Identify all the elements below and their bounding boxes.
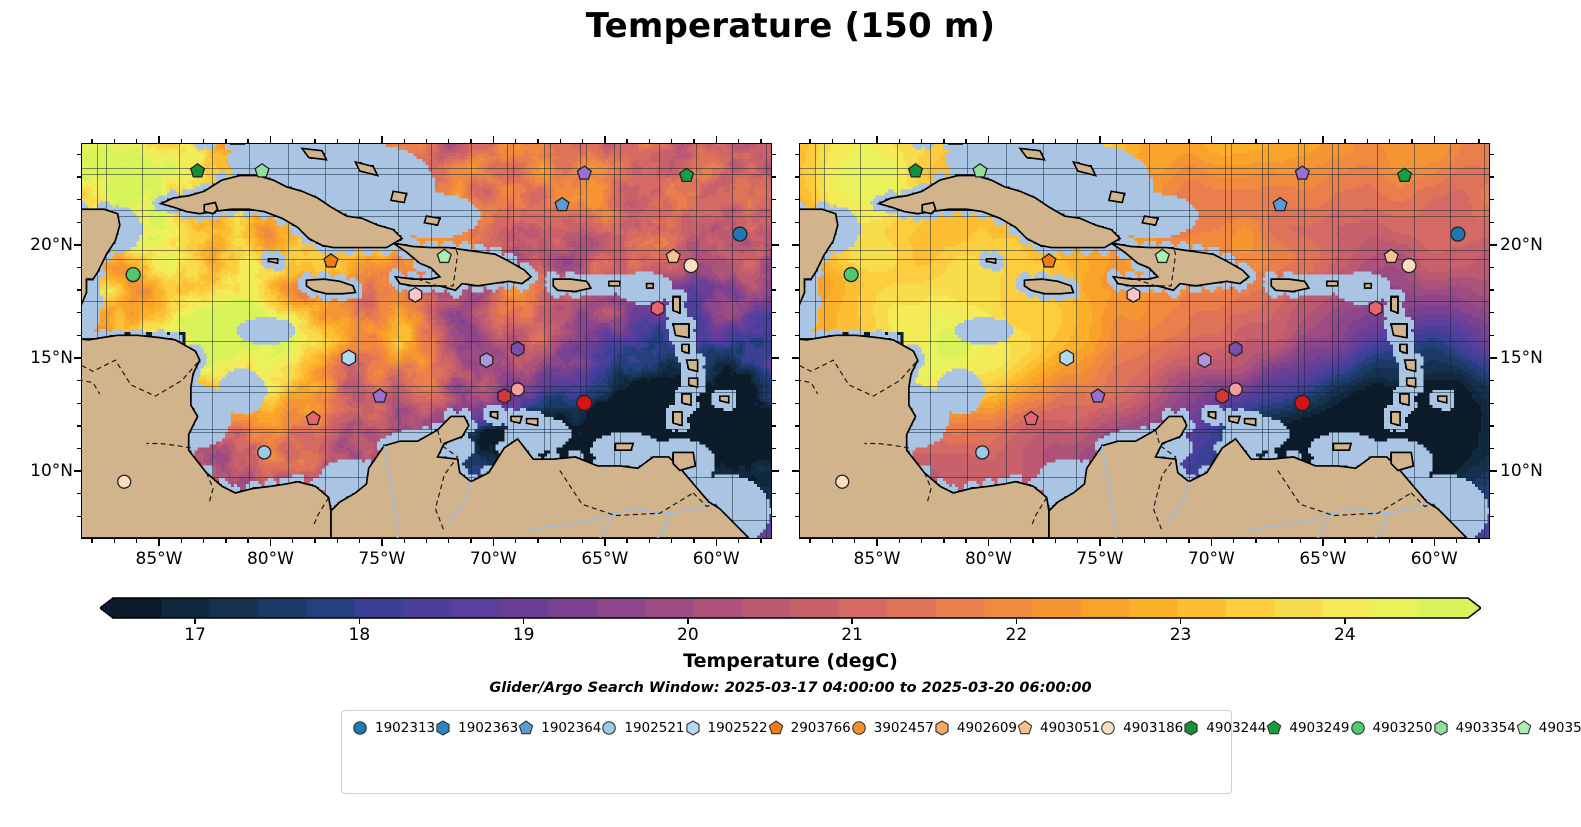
lat-minor-tick <box>795 448 799 449</box>
lon-top-tick <box>716 136 717 143</box>
lon-minor-tick <box>1032 139 1033 143</box>
lat-tick-label-left-2: 20°N <box>8 235 73 255</box>
lat-minor-tick <box>77 516 81 517</box>
colorbar-band <box>1226 598 1275 618</box>
lat-minor-tick <box>77 493 81 494</box>
legend-item-4903186[interactable]: 4903186 <box>1100 717 1183 738</box>
legend-marker-circle <box>1100 720 1116 736</box>
lon-top-tick <box>158 136 159 143</box>
legend-item-1902521[interactable]: 1902521 <box>601 717 684 738</box>
colorbar-band <box>839 598 888 618</box>
lon-minor-tick <box>649 139 650 143</box>
lon-minor-tick <box>181 539 182 543</box>
axis-decorations: 85°W80°W75°W70°W65°W60°W85°W80°W75°W70°W… <box>0 0 1581 600</box>
lon-minor-tick <box>1055 139 1056 143</box>
colorbar-tick-label-6: 23 <box>1170 625 1192 645</box>
lat-minor-tick <box>1490 425 1494 426</box>
lon-minor-tick <box>470 139 471 143</box>
legend-label-4903354: 4903354 <box>1456 720 1516 736</box>
legend-item-4903354[interactable]: 4903354 <box>1433 717 1516 738</box>
lat-minor-tick <box>77 403 81 404</box>
colorbar-tick-label-2: 19 <box>513 625 535 645</box>
colorbar-tick-label-3: 20 <box>677 625 699 645</box>
lat-minor-tick <box>772 380 776 381</box>
lat-minor-tick <box>1490 516 1494 517</box>
colorbar-tick <box>359 618 360 624</box>
lon-minor-tick <box>314 539 315 543</box>
lon-minor-tick <box>404 139 405 143</box>
colorbar-tick <box>523 618 524 624</box>
lon-tick-rtofs-0 <box>158 539 159 546</box>
lat-minor-tick <box>1490 154 1494 155</box>
lon-minor-tick <box>1300 139 1301 143</box>
lon-minor-tick <box>1055 539 1056 543</box>
lon-top-tick <box>604 136 605 143</box>
colorbar-band <box>210 598 259 618</box>
lat-tick-right <box>772 244 779 245</box>
lon-minor-tick <box>1367 539 1368 543</box>
colorbar-band <box>403 598 452 618</box>
lon-minor-tick <box>582 539 583 543</box>
lon-minor-tick <box>1389 539 1390 543</box>
legend-marker-circle <box>601 720 617 736</box>
lon-minor-tick <box>832 539 833 543</box>
lon-minor-tick <box>537 139 538 143</box>
lon-minor-tick <box>738 539 739 543</box>
legend-item-2903766[interactable]: 2903766 <box>768 717 851 738</box>
lat-minor-tick <box>77 176 81 177</box>
colorbar-band <box>791 598 840 618</box>
lat-minor-tick <box>77 380 81 381</box>
legend-marker-hexagon <box>1183 720 1199 736</box>
lon-minor-tick <box>114 539 115 543</box>
colorbar-band <box>452 598 501 618</box>
colorbar-band <box>597 598 646 618</box>
lon-minor-tick <box>921 139 922 143</box>
lon-minor-tick <box>515 139 516 143</box>
lat-tick-label-right-2: 20°N <box>1500 235 1543 255</box>
lon-minor-tick <box>1010 539 1011 543</box>
legend-marker-pentagon <box>1266 720 1282 736</box>
lon-minor-tick <box>671 139 672 143</box>
lon-minor-tick <box>943 139 944 143</box>
lon-minor-tick <box>1166 139 1167 143</box>
lon-minor-tick <box>582 139 583 143</box>
lat-minor-tick <box>795 380 799 381</box>
lon-minor-tick <box>1144 539 1145 543</box>
lat-tick-right <box>772 357 779 358</box>
lon-minor-tick <box>1411 539 1412 543</box>
lon-minor-tick <box>359 539 360 543</box>
colorbar-band <box>984 598 1033 618</box>
lon-top-tick <box>381 136 382 143</box>
lon-minor-tick <box>1077 139 1078 143</box>
lon-tick-label-rtofs-4: 65°W <box>581 549 628 569</box>
lon-minor-tick <box>247 139 248 143</box>
lat-minor-tick <box>1490 267 1494 268</box>
lon-minor-tick <box>1278 539 1279 543</box>
colorbar-tick-label-1: 18 <box>349 625 371 645</box>
lon-minor-tick <box>854 539 855 543</box>
lon-minor-tick <box>136 539 137 543</box>
lon-top-tick <box>1099 136 1100 143</box>
lon-minor-tick <box>515 539 516 543</box>
lat-minor-tick <box>772 448 776 449</box>
lon-tick-rtofs-3 <box>493 539 494 546</box>
colorbar-band <box>549 598 598 618</box>
lon-minor-tick <box>1144 139 1145 143</box>
lon-minor-tick <box>649 539 650 543</box>
lat-minor-tick <box>772 516 776 517</box>
lon-minor-tick <box>1010 139 1011 143</box>
colorbar[interactable] <box>100 592 1481 628</box>
lon-tick-rtofs-2 <box>381 539 382 546</box>
colorbar-title: Temperature (degC) <box>0 650 1581 672</box>
lat-minor-tick <box>772 176 776 177</box>
lat-minor-tick <box>1490 289 1494 290</box>
lon-minor-tick <box>760 539 761 543</box>
lat-tick-right <box>1490 470 1497 471</box>
lon-minor-tick <box>203 539 204 543</box>
lat-minor-tick <box>1490 493 1494 494</box>
legend-item-1902522[interactable]: 1902522 <box>685 717 768 738</box>
lon-tick-label-rtofs-2: 75°W <box>358 549 405 569</box>
colorbar-tick-label-4: 21 <box>841 625 863 645</box>
lon-minor-tick <box>921 539 922 543</box>
lon-minor-tick <box>247 539 248 543</box>
legend-item-4903244[interactable]: 4903244 <box>1183 717 1266 738</box>
legend-label-4903051: 4903051 <box>1040 720 1100 736</box>
lon-minor-tick <box>738 139 739 143</box>
colorbar-tick-label-5: 22 <box>1006 625 1028 645</box>
lon-minor-tick <box>426 139 427 143</box>
lat-tick-right <box>772 470 779 471</box>
colorbar-band <box>1081 598 1130 618</box>
lon-tick-rtofs-5 <box>716 539 717 546</box>
lon-minor-tick <box>899 539 900 543</box>
lon-tick-label-rtofs-parallel-0: 85°W <box>854 549 901 569</box>
lon-minor-tick <box>1166 539 1167 543</box>
lon-minor-tick <box>314 139 315 143</box>
lat-minor-tick <box>772 335 776 336</box>
lat-minor-tick <box>77 425 81 426</box>
legend-label-4903244: 4903244 <box>1206 720 1266 736</box>
lon-minor-tick <box>1255 139 1256 143</box>
legend-marker-circle <box>851 720 867 736</box>
colorbar-tick-label-0: 17 <box>184 625 206 645</box>
lon-minor-tick <box>693 539 694 543</box>
lon-minor-tick <box>560 539 561 543</box>
lat-minor-tick <box>1490 403 1494 404</box>
colorbar-band <box>1178 598 1227 618</box>
lon-tick-rtofs-parallel-3 <box>1211 539 1212 546</box>
lat-tick-right <box>1490 357 1497 358</box>
lon-minor-tick <box>225 139 226 143</box>
lat-minor-tick <box>772 267 776 268</box>
lon-minor-tick <box>854 139 855 143</box>
lat-minor-tick <box>795 289 799 290</box>
lat-minor-tick <box>795 312 799 313</box>
legend-label-4902609: 4902609 <box>957 720 1017 736</box>
lon-top-tick <box>270 136 271 143</box>
lon-minor-tick <box>225 539 226 543</box>
lat-minor-tick <box>77 448 81 449</box>
legend-item-4902609[interactable]: 4902609 <box>934 717 1017 738</box>
legend-marker-pentagon <box>1017 720 1033 736</box>
lon-tick-label-rtofs-parallel-1: 80°W <box>965 549 1012 569</box>
lon-minor-tick <box>1188 539 1189 543</box>
lon-minor-tick <box>943 539 944 543</box>
colorbar-band <box>307 598 356 618</box>
lon-minor-tick <box>1367 139 1368 143</box>
legend-marker-hexagon <box>934 720 950 736</box>
colorbar-band <box>694 598 743 618</box>
colorbar-band <box>500 598 549 618</box>
lat-minor-tick <box>1490 335 1494 336</box>
lon-top-tick <box>1434 136 1435 143</box>
legend-item-1902313[interactable]: 1902313 <box>352 717 435 738</box>
lon-tick-label-rtofs-3: 70°W <box>470 549 517 569</box>
lon-minor-tick <box>1344 139 1345 143</box>
legend-label-1902522: 1902522 <box>708 720 768 736</box>
colorbar-band <box>1420 598 1469 618</box>
lat-minor-tick <box>772 493 776 494</box>
colorbar-band <box>887 598 936 618</box>
lon-top-tick <box>876 136 877 143</box>
lat-minor-tick <box>795 199 799 200</box>
lon-tick-label-rtofs-parallel-2: 75°W <box>1076 549 1123 569</box>
legend-marker-pentagon <box>768 720 784 736</box>
lon-minor-tick <box>1188 139 1189 143</box>
lon-minor-tick <box>1255 539 1256 543</box>
lon-tick-label-rtofs-parallel-5: 60°W <box>1411 549 1458 569</box>
colorbar-band <box>1129 598 1178 618</box>
lat-minor-tick <box>772 312 776 313</box>
lon-minor-tick <box>426 539 427 543</box>
lon-minor-tick <box>1122 539 1123 543</box>
lon-tick-label-rtofs-1: 80°W <box>247 549 294 569</box>
legend-label-1902363: 1902363 <box>458 720 518 736</box>
lon-minor-tick <box>1456 139 1457 143</box>
lat-tick-left <box>74 244 81 245</box>
lon-tick-label-rtofs-0: 85°W <box>136 549 183 569</box>
lon-minor-tick <box>359 139 360 143</box>
lat-minor-tick <box>77 154 81 155</box>
lon-minor-tick <box>671 539 672 543</box>
colorbar-tick <box>851 618 852 624</box>
lat-minor-tick <box>772 289 776 290</box>
legend-label-4903561: 4903561 <box>1539 720 1581 736</box>
lat-tick-right <box>1490 244 1497 245</box>
lat-minor-tick <box>795 516 799 517</box>
colorbar-tick <box>1016 618 1017 624</box>
colorbar-band <box>1371 598 1420 618</box>
lat-minor-tick <box>795 425 799 426</box>
lat-minor-tick <box>1490 222 1494 223</box>
lon-minor-tick <box>809 139 810 143</box>
lon-minor-tick <box>560 139 561 143</box>
legend-marker-pentagon <box>518 720 534 736</box>
legend-label-1902313: 1902313 <box>375 720 435 736</box>
colorbar-band <box>936 598 985 618</box>
lon-minor-tick <box>203 139 204 143</box>
legend-item-1902363[interactable]: 1902363 <box>435 717 518 738</box>
colorbar-extend-max <box>1468 598 1481 618</box>
lon-tick-label-rtofs-parallel-4: 65°W <box>1299 549 1346 569</box>
legend-item-3902457[interactable]: 3902457 <box>851 717 934 738</box>
lat-minor-tick <box>77 199 81 200</box>
lat-minor-tick <box>795 493 799 494</box>
lon-minor-tick <box>470 539 471 543</box>
lon-minor-tick <box>626 139 627 143</box>
lon-minor-tick <box>760 139 761 143</box>
lon-minor-tick <box>1344 539 1345 543</box>
lon-tick-rtofs-parallel-2 <box>1099 539 1100 546</box>
lat-tick-left <box>792 244 799 245</box>
colorbar-tick <box>1180 618 1181 624</box>
lat-minor-tick <box>77 312 81 313</box>
lon-top-tick <box>1322 136 1323 143</box>
lat-minor-tick <box>772 154 776 155</box>
lat-minor-tick <box>795 222 799 223</box>
lon-tick-rtofs-1 <box>270 539 271 546</box>
lat-tick-label-right-0: 10°N <box>1500 461 1543 481</box>
lon-minor-tick <box>1122 139 1123 143</box>
legend-marker-circle <box>352 720 368 736</box>
lon-tick-label-rtofs-parallel-3: 70°W <box>1188 549 1235 569</box>
lon-tick-rtofs-parallel-1 <box>988 539 989 546</box>
lon-minor-tick <box>965 539 966 543</box>
lat-minor-tick <box>772 425 776 426</box>
lon-minor-tick <box>181 139 182 143</box>
lat-minor-tick <box>772 222 776 223</box>
lat-minor-tick <box>1490 312 1494 313</box>
lon-minor-tick <box>292 539 293 543</box>
colorbar-gradient <box>100 592 1481 628</box>
lat-minor-tick <box>1490 199 1494 200</box>
lon-minor-tick <box>693 139 694 143</box>
lat-minor-tick <box>795 403 799 404</box>
legend-marker-hexagon <box>1433 720 1449 736</box>
lon-tick-rtofs-parallel-0 <box>876 539 877 546</box>
lon-top-tick <box>988 136 989 143</box>
lat-tick-label-left-0: 10°N <box>8 461 73 481</box>
lat-tick-left <box>792 470 799 471</box>
lon-minor-tick <box>136 139 137 143</box>
lat-minor-tick <box>1490 176 1494 177</box>
legend-label-4903186: 4903186 <box>1123 720 1183 736</box>
lat-minor-tick <box>1490 448 1494 449</box>
lon-minor-tick <box>537 539 538 543</box>
lon-minor-tick <box>626 539 627 543</box>
legend-label-4903249: 4903249 <box>1289 720 1349 736</box>
lon-minor-tick <box>1077 539 1078 543</box>
lon-minor-tick <box>832 139 833 143</box>
lon-minor-tick <box>1478 139 1479 143</box>
lat-minor-tick <box>1490 380 1494 381</box>
lon-minor-tick <box>1233 139 1234 143</box>
lat-minor-tick <box>795 335 799 336</box>
legend-item-4903051[interactable]: 4903051 <box>1017 717 1100 738</box>
colorbar-band <box>258 598 307 618</box>
colorbar-band <box>742 598 791 618</box>
lon-minor-tick <box>965 139 966 143</box>
colorbar-tick <box>194 618 195 624</box>
lon-minor-tick <box>1389 139 1390 143</box>
lon-tick-rtofs-parallel-5 <box>1434 539 1435 546</box>
lon-minor-tick <box>448 139 449 143</box>
colorbar-extend-min <box>100 598 113 618</box>
colorbar-band <box>1274 598 1323 618</box>
lat-minor-tick <box>77 289 81 290</box>
lon-minor-tick <box>1300 539 1301 543</box>
legend-marker-pentagon <box>1516 720 1532 736</box>
colorbar-band <box>113 598 162 618</box>
legend-item-4903250[interactable]: 4903250 <box>1350 717 1433 738</box>
colorbar-band <box>645 598 694 618</box>
legend-item-1902364[interactable]: 1902364 <box>518 717 601 738</box>
lon-minor-tick <box>809 539 810 543</box>
lon-minor-tick <box>292 139 293 143</box>
lon-minor-tick <box>448 539 449 543</box>
lon-tick-rtofs-parallel-4 <box>1322 539 1323 546</box>
search-window-label: Glider/Argo Search Window: 2025-03-17 04… <box>0 680 1581 696</box>
lon-minor-tick <box>1456 539 1457 543</box>
lon-minor-tick <box>114 139 115 143</box>
legend-marker-circle <box>1350 720 1366 736</box>
platform-legend[interactable]: 1902313190236319023641902521190252229037… <box>341 710 1232 794</box>
lat-minor-tick <box>772 199 776 200</box>
lon-minor-tick <box>404 539 405 543</box>
colorbar-band <box>161 598 210 618</box>
lon-minor-tick <box>1278 139 1279 143</box>
lat-minor-tick <box>77 335 81 336</box>
legend-label-1902521: 1902521 <box>624 720 684 736</box>
lon-minor-tick <box>337 539 338 543</box>
legend-label-4903250: 4903250 <box>1373 720 1433 736</box>
colorbar-tick <box>687 618 688 624</box>
lon-top-tick <box>493 136 494 143</box>
legend-item-4903249[interactable]: 4903249 <box>1266 717 1349 738</box>
legend-label-3902457: 3902457 <box>874 720 934 736</box>
lat-minor-tick <box>77 267 81 268</box>
lon-minor-tick <box>91 139 92 143</box>
legend-marker-hexagon <box>685 720 701 736</box>
colorbar-tick-label-7: 24 <box>1334 625 1356 645</box>
legend-label-1902364: 1902364 <box>541 720 601 736</box>
lon-top-tick <box>1211 136 1212 143</box>
lon-minor-tick <box>1411 139 1412 143</box>
colorbar-tick <box>1344 618 1345 624</box>
lon-tick-rtofs-4 <box>604 539 605 546</box>
lat-minor-tick <box>772 403 776 404</box>
lat-tick-left <box>74 357 81 358</box>
lat-tick-left <box>792 357 799 358</box>
colorbar-band <box>355 598 404 618</box>
lat-minor-tick <box>77 222 81 223</box>
lon-minor-tick <box>1233 539 1234 543</box>
lon-tick-label-rtofs-5: 60°W <box>693 549 740 569</box>
legend-label-2903766: 2903766 <box>791 720 851 736</box>
legend-item-4903561[interactable]: 4903561 <box>1516 717 1581 738</box>
lon-minor-tick <box>899 139 900 143</box>
lon-minor-tick <box>91 539 92 543</box>
legend-marker-hexagon <box>435 720 451 736</box>
lat-tick-label-right-1: 15°N <box>1500 348 1543 368</box>
colorbar-band <box>1323 598 1372 618</box>
lat-minor-tick <box>795 176 799 177</box>
lon-minor-tick <box>1478 539 1479 543</box>
